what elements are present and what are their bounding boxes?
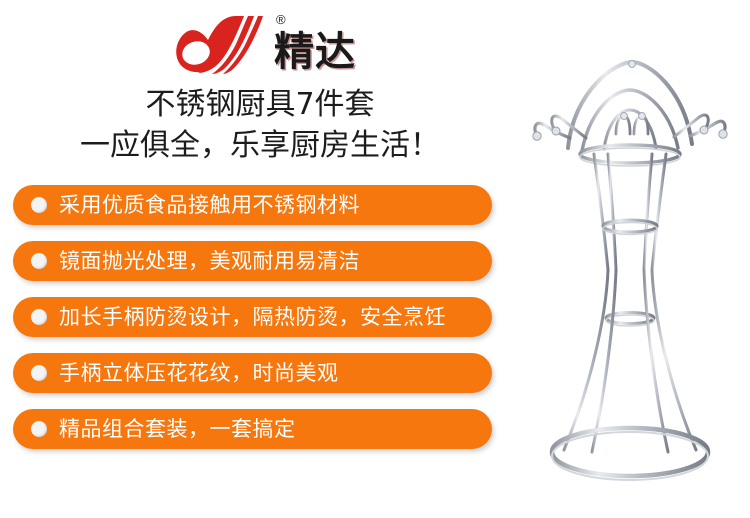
bullet-dot-icon — [31, 197, 47, 213]
bullet-dot-icon — [31, 365, 47, 381]
feature-label: 采用优质食品接触用不锈钢材料 — [59, 195, 360, 216]
jingda-swoosh-logo-icon — [170, 14, 270, 76]
registered-trademark-icon: ® — [276, 13, 286, 26]
feature-label: 镜面抛光处理，美观耐用易清洁 — [59, 251, 360, 272]
brand-name-block: ® 精达 — [274, 14, 356, 76]
stainless-steel-utensil-rack-icon — [508, 18, 750, 508]
feature-item: 手柄立体压花花纹，时尚美观 — [13, 353, 492, 393]
feature-label: 精品组合套装，一套搞定 — [59, 419, 296, 440]
product-photo — [508, 18, 750, 508]
headline-secondary: 一应俱全，乐享厨房生活！ — [0, 131, 520, 161]
feature-item: 精品组合套装，一套搞定 — [13, 409, 492, 449]
headline-primary: 不锈钢厨具7件套 — [0, 90, 520, 120]
promo-banner: ® 精达 不锈钢厨具7件套 一应俱全，乐享厨房生活！ 采用优质食品接触用不锈钢材… — [0, 0, 750, 518]
feature-label: 加长手柄防烫设计，隔热防烫，安全烹饪 — [59, 307, 446, 328]
feature-item: 加长手柄防烫设计，隔热防烫，安全烹饪 — [13, 297, 492, 337]
brand-name-cn: 精达 — [274, 32, 356, 76]
feature-label: 手柄立体压花花纹，时尚美观 — [59, 363, 339, 384]
bullet-dot-icon — [31, 253, 47, 269]
feature-list: 采用优质食品接触用不锈钢材料 镜面抛光处理，美观耐用易清洁 加长手柄防烫设计，隔… — [13, 185, 493, 465]
feature-item: 镜面抛光处理，美观耐用易清洁 — [13, 241, 492, 281]
brand-logo: ® 精达 — [170, 12, 385, 78]
bullet-dot-icon — [31, 421, 47, 437]
feature-item: 采用优质食品接触用不锈钢材料 — [13, 185, 492, 225]
bullet-dot-icon — [31, 309, 47, 325]
